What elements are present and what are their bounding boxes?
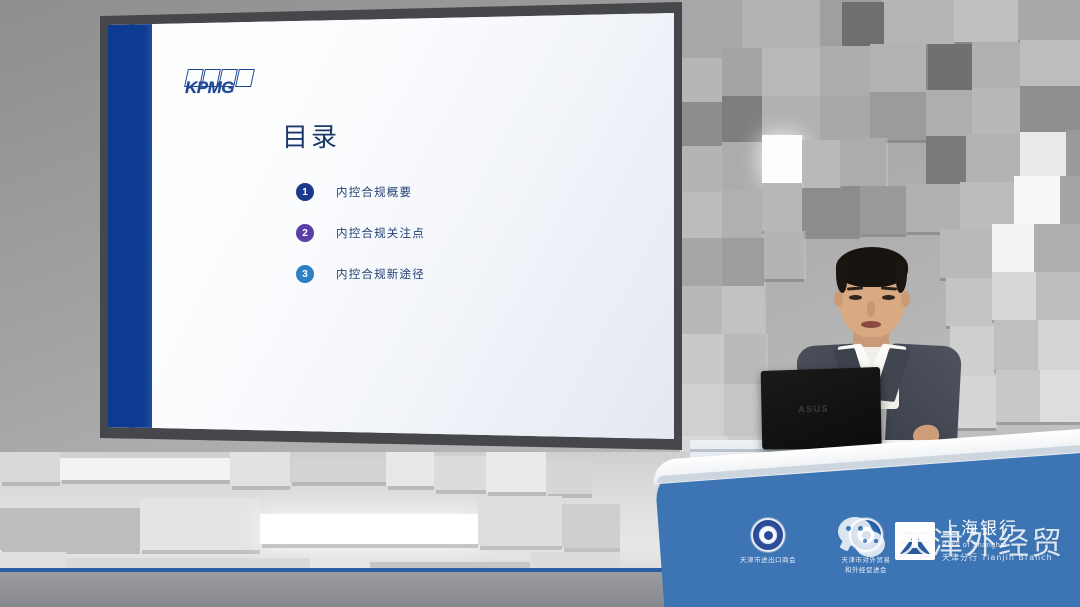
sponsor-logo-1-text: 天津市进出口商会 xyxy=(726,556,810,566)
hair-side-right xyxy=(896,261,907,293)
bank-branch: 天津分行 Tianjin Branch xyxy=(942,552,1053,563)
toc-label-1: 内控合规概要 xyxy=(336,184,412,200)
bank-emblem-icon xyxy=(895,522,935,560)
bank-name-cn: 上海银行 xyxy=(942,520,1053,540)
laptop-brand-logo: ASUS xyxy=(798,404,829,415)
hair-side-left xyxy=(836,261,847,293)
toc-item-1[interactable]: 1 内控合规概要 xyxy=(296,183,425,201)
toc-number-badge-3: 3 xyxy=(296,265,314,283)
toc-number-badge-1: 1 xyxy=(296,183,314,201)
chamber-emblem-icon xyxy=(751,518,785,552)
slide-title: 目录 xyxy=(282,117,340,154)
toc-label-3: 内控合规新途径 xyxy=(336,266,425,282)
kpmg-logo-text: KPMG xyxy=(185,78,234,98)
laptop[interactable]: ASUS xyxy=(761,367,882,450)
toc-number-badge-2: 2 xyxy=(296,224,314,242)
bank-name-en: Bank of Shanghai xyxy=(942,542,1053,549)
slide-accent-shade xyxy=(144,11,153,448)
nose xyxy=(867,301,875,317)
bank-logo-textblock: 上海银行 Bank of Shanghai 天津分行 Tianjin Branc… xyxy=(942,520,1053,563)
bank-logo: 上海银行 Bank of Shanghai 天津分行 Tianjin Branc… xyxy=(895,520,1053,563)
ear-left xyxy=(834,291,843,307)
studio-floor xyxy=(0,572,700,607)
ear-right xyxy=(901,291,910,307)
toc-item-2[interactable]: 2 内控合规关注点 xyxy=(296,224,425,242)
slide-canvas: KPMG 目录 1 内控合规概要 2 内控合规关注点 3 内控合规新途径 xyxy=(104,11,678,448)
toc-label-2: 内控合规关注点 xyxy=(336,225,425,241)
sponsor-logos: 天津市进出口商会 天津市对外贸易 和外经促进会 xyxy=(726,518,908,576)
eye-left xyxy=(849,295,862,300)
table-of-contents: 1 内控合规概要 2 内控合规关注点 3 内控合规新途径 xyxy=(296,183,425,306)
kpmg-logo: KPMG xyxy=(186,69,252,99)
presentation-screen[interactable]: KPMG 目录 1 内控合规概要 2 内控合规关注点 3 内控合规新途径 xyxy=(104,11,678,448)
studio-broadcast-frame: KPMG 目录 1 内控合规概要 2 内控合规关注点 3 内控合规新途径 xyxy=(0,0,1080,607)
sponsor-logo-1: 天津市进出口商会 xyxy=(726,518,810,566)
eye-right xyxy=(882,295,895,300)
toc-item-3[interactable]: 3 内控合规新途径 xyxy=(296,265,425,283)
mouth xyxy=(861,321,881,328)
association-emblem-icon xyxy=(849,518,883,552)
